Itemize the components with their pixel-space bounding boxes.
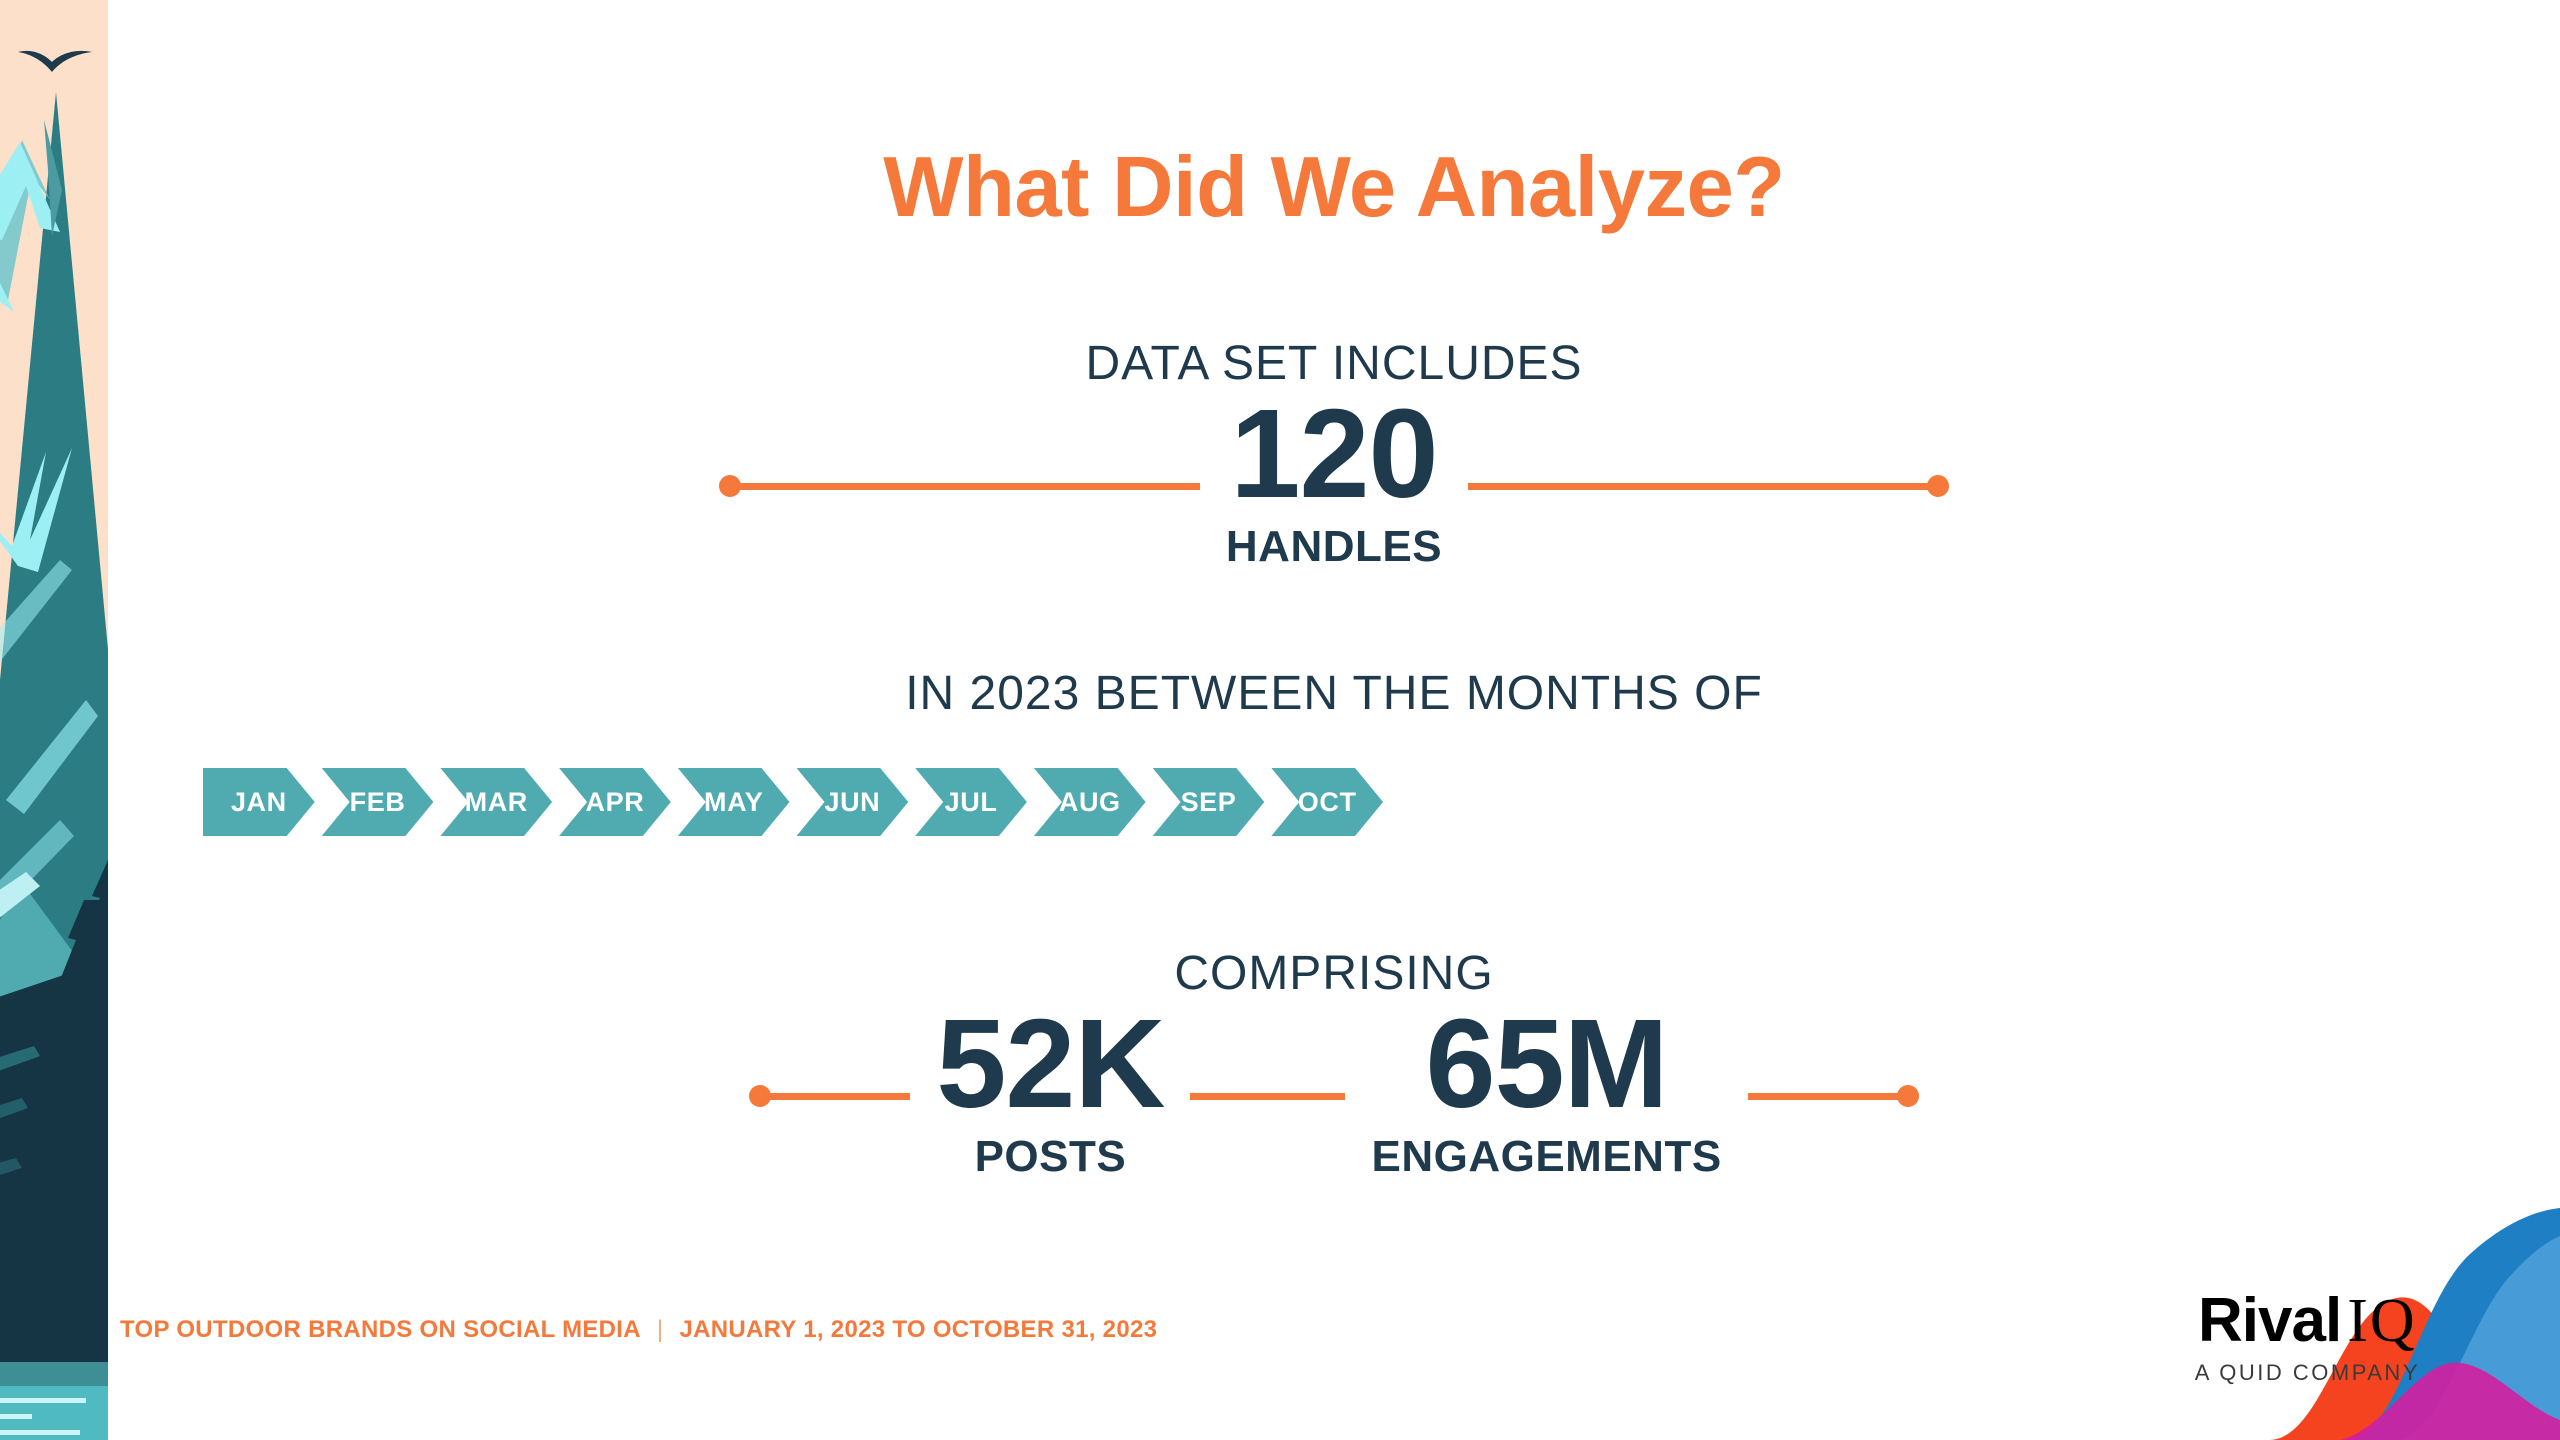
posts-value: 52K: [936, 1010, 1164, 1118]
month-timeline: JAN FEB MAR APR MAY JUN JUL AUG SEP OCT: [203, 768, 1383, 836]
stat-handles: 120 HANDLES: [1226, 400, 1442, 572]
month-chip-jun[interactable]: JUN: [797, 768, 909, 836]
handles-label: HANDLES: [1226, 522, 1442, 572]
month-chip-jan[interactable]: JAN: [203, 768, 315, 836]
stat-engagements: 65M ENGAGEMENTS: [1371, 1010, 1721, 1182]
engagements-label: ENGAGEMENTS: [1371, 1132, 1721, 1182]
month-chip-oct[interactable]: OCT: [1271, 768, 1383, 836]
stat-posts: 52K POSTS: [936, 1010, 1164, 1182]
eyebrow-months-intro: IN 2023 BETWEEN THE MONTHS OF: [108, 670, 2560, 718]
month-chip-jul[interactable]: JUL: [915, 768, 1027, 836]
logo-wordmark: RivalIQ: [2195, 1290, 2420, 1352]
rule-left-posts: [760, 1093, 910, 1100]
engagements-value: 65M: [1426, 1010, 1668, 1118]
rival-iq-logo: RivalIQ A QUID COMPANY: [2195, 1290, 2420, 1386]
logo-tagline: A QUID COMPANY: [2195, 1360, 2420, 1386]
footer: TOP OUTDOOR BRANDS ON SOCIAL MEDIA | JAN…: [120, 1316, 1157, 1344]
month-chip-aug[interactable]: AUG: [1034, 768, 1146, 836]
rule-middle: [1190, 1093, 1345, 1100]
eyebrow-comprising: COMPRISING: [108, 950, 2560, 998]
handles-stat-row: 120 HANDLES: [108, 400, 2560, 572]
lake-ripple-c: [0, 1430, 80, 1435]
rule-left-handles: [730, 483, 1200, 490]
slide-body: What Did We Analyze? DATA SET INCLUDES 1…: [108, 0, 2560, 1440]
rule-right-engagements: [1748, 1093, 1908, 1100]
month-chip-may[interactable]: MAY: [678, 768, 790, 836]
posts-label: POSTS: [975, 1132, 1127, 1182]
logo-iq-mark: IQ: [2347, 1287, 2416, 1355]
page-title: What Did We Analyze?: [108, 145, 2560, 230]
footer-source: TOP OUTDOOR BRANDS ON SOCIAL MEDIA: [120, 1316, 641, 1344]
month-chip-apr[interactable]: APR: [559, 768, 671, 836]
month-chip-mar[interactable]: MAR: [440, 768, 552, 836]
footer-separator: |: [657, 1316, 664, 1344]
lake-ripple-a: [0, 1398, 86, 1403]
side-illustration: [0, 0, 108, 1440]
eyebrow-data-set-includes: DATA SET INCLUDES: [108, 340, 2560, 388]
wave-light-blue: [2400, 1236, 2560, 1440]
rule-right-handles: [1468, 483, 1938, 490]
comprising-stat-row: 52K POSTS 65M ENGAGEMENTS: [108, 1010, 2560, 1182]
footer-date-range: JANUARY 1, 2023 TO OCTOBER 31, 2023: [679, 1316, 1157, 1344]
handles-value: 120: [1230, 400, 1437, 508]
month-chip-feb[interactable]: FEB: [322, 768, 434, 836]
lake-ripple-b: [0, 1414, 32, 1419]
month-chip-sep[interactable]: SEP: [1153, 768, 1265, 836]
logo-brand-text: Rival: [2198, 1286, 2341, 1355]
lake-shore: [0, 1362, 108, 1386]
